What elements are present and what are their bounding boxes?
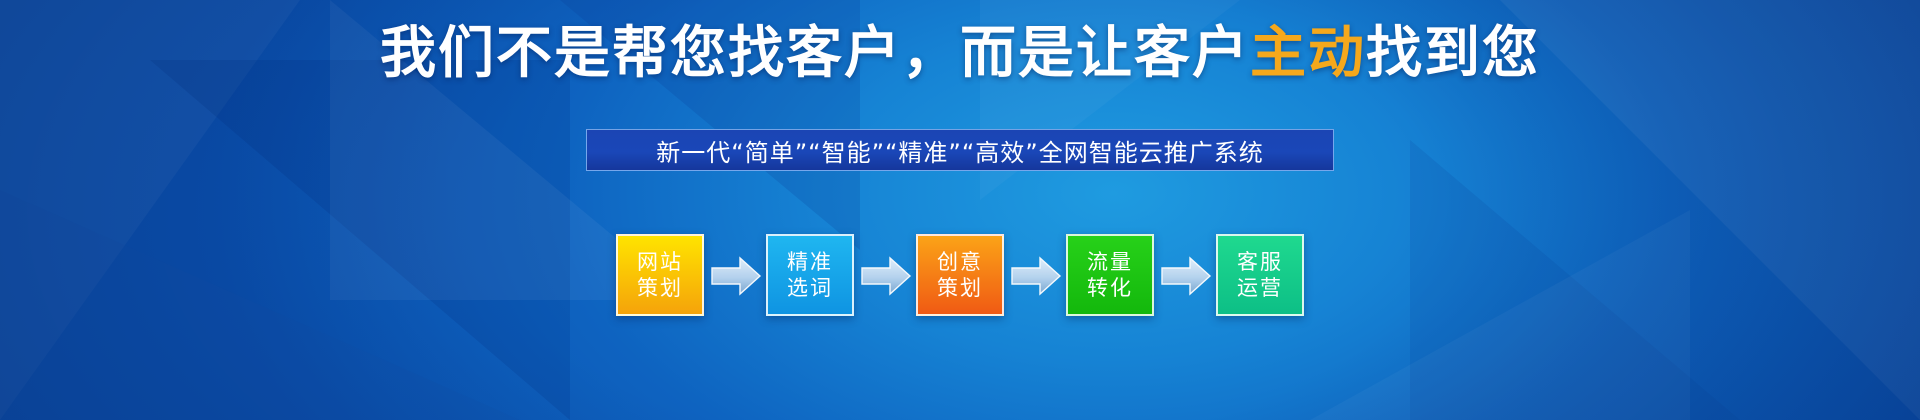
banner-headline: 我们不是帮您找客户，而是让客户主动找到您	[0, 22, 1920, 86]
arrow-right-icon	[1154, 234, 1216, 316]
flow-step-label-line2: 策划	[937, 275, 983, 301]
flow-step-label-line2: 策划	[637, 275, 683, 301]
flow-step-label-line1: 网站	[637, 249, 683, 275]
subtitle-bar: 新一代“简单”“智能”“精准”“高效”全网智能云推广系统	[586, 129, 1334, 171]
subtitle-text: 新一代“简单”“智能”“精准”“高效”全网智能云推广系统	[656, 133, 1263, 168]
flow-step-3[interactable]: 创意策划	[916, 234, 1004, 316]
flow-step-label-line1: 流量	[1087, 249, 1133, 275]
promo-banner: 我们不是帮您找客户，而是让客户主动找到您 新一代“简单”“智能”“精准”“高效”…	[0, 0, 1920, 420]
arrow-right-icon	[1004, 234, 1066, 316]
flow-step-5[interactable]: 客服运营	[1216, 234, 1304, 316]
flow-step-label-line1: 精准	[787, 249, 833, 275]
process-flow: 网站策划精准选词创意策划流量转化客服运营	[616, 225, 1304, 325]
headline-text-before: 我们不是帮您找客户，而是让客户	[380, 21, 1250, 86]
flow-step-1[interactable]: 网站策划	[616, 234, 704, 316]
headline-text-after: 找到您	[1366, 21, 1540, 86]
flow-step-label-line1: 客服	[1237, 249, 1283, 275]
arrow-right-icon	[854, 234, 916, 316]
flow-step-4[interactable]: 流量转化	[1066, 234, 1154, 316]
flow-step-label-line2: 选词	[787, 275, 833, 301]
flow-step-label-line2: 转化	[1087, 275, 1133, 301]
arrow-right-icon	[704, 234, 766, 316]
flow-step-label-line1: 创意	[937, 249, 983, 275]
flow-step-2[interactable]: 精准选词	[766, 234, 854, 316]
flow-step-label-line2: 运营	[1237, 275, 1283, 301]
headline-text-highlight: 主动	[1250, 21, 1366, 86]
